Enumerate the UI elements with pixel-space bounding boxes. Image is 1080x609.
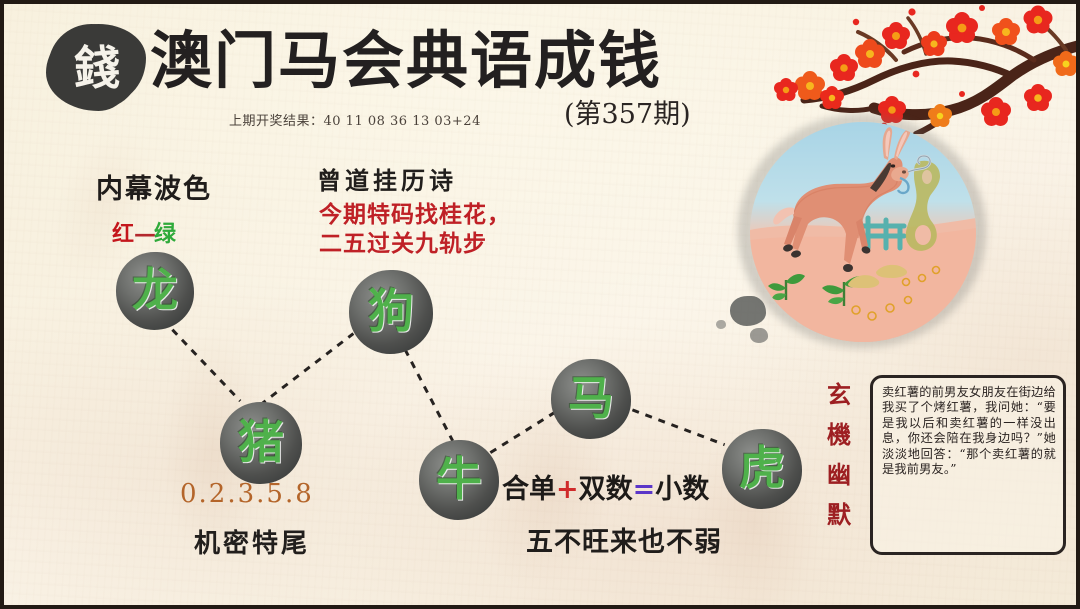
ink-splat-large <box>730 296 766 326</box>
zodiac-ball-pig[interactable]: 猪 <box>220 402 302 484</box>
formula-middle: 双数 <box>579 474 633 505</box>
issue-number: (第357期) <box>564 92 691 131</box>
plum-blossom-branch <box>766 0 1080 134</box>
humor-vertical-label: 玄機幽默 <box>822 375 856 535</box>
humor-text-box: 卖红薯的前男友女朋友在街边给我买了个烤红薯，我问她：“要是我以后和卖红薯的一样没… <box>870 375 1066 555</box>
formula-right: 小数 <box>655 474 709 505</box>
seal-glyph: 錢 <box>42 18 150 116</box>
secret-tail-label: 机密特尾 <box>194 523 310 560</box>
secret-tail-numbers: 0.2.3.5.8 <box>180 479 314 509</box>
donkey-artwork <box>750 122 976 342</box>
ink-splat-tiny <box>716 320 726 329</box>
formula-left: 合单 <box>502 474 556 505</box>
poem-body: 今期特码找桂花， 二五过关九轨步 <box>319 200 511 258</box>
page-title: 澳门马会典语成钱 <box>150 30 662 92</box>
zodiac-ball-horse[interactable]: 马 <box>551 359 631 439</box>
ink-splat-small <box>750 328 768 343</box>
brand-seal: 錢 <box>42 18 150 116</box>
zodiac-ball-ox-label: 牛 <box>436 456 482 505</box>
zodiac-ball-pig-label: 猪 <box>238 419 284 468</box>
zodiac-ball-dragon-label: 龙 <box>132 267 178 316</box>
link-dog-ox <box>405 349 453 440</box>
link-ox-horse <box>490 413 554 453</box>
zodiac-ball-dog-label: 狗 <box>368 288 414 337</box>
link-horse-tiger <box>619 405 724 445</box>
artwork-disc <box>750 122 976 342</box>
zodiac-ball-dragon[interactable]: 龙 <box>116 252 194 330</box>
formula-plus: + <box>556 474 579 505</box>
zodiac-ball-dog[interactable]: 狗 <box>349 270 433 354</box>
wave-color-dash: — <box>134 221 154 247</box>
wave-color-title: 内幕波色 <box>96 167 212 206</box>
link-pig-dog <box>260 334 353 405</box>
zodiac-ball-tiger-label: 虎 <box>739 445 785 494</box>
donkey-scene-svg <box>750 122 976 342</box>
wave-color-value: 红—绿 <box>112 216 176 248</box>
zodiac-ball-ox[interactable]: 牛 <box>419 440 499 520</box>
formula-expression: 合单+双数=小数 <box>502 467 709 506</box>
poem-line-2: 二五过关九轨步 <box>319 229 511 258</box>
poem-line-1: 今期特码找桂花， <box>319 200 511 229</box>
link-dragon-pig <box>163 320 240 401</box>
zodiac-ball-horse-label: 马 <box>568 375 614 424</box>
last-draw-result: 上期开奖结果：40 11 08 36 13 03+24 <box>229 110 481 129</box>
formula-equals: = <box>633 474 656 505</box>
poster-canvas: 錢 澳门马会典语成钱 (第357期) 上期开奖结果：40 11 08 36 13… <box>0 0 1080 609</box>
wave-color-second: 绿 <box>154 221 176 247</box>
zodiac-ball-tiger[interactable]: 虎 <box>722 429 802 509</box>
wave-color-first: 红 <box>112 221 134 247</box>
poem-title: 曾道挂历诗 <box>317 161 457 196</box>
formula-subtitle: 五不旺来也不弱 <box>526 520 722 559</box>
humor-text: 卖红薯的前男友女朋友在街边给我买了个烤红薯，我问她：“要是我以后和卖红薯的一样没… <box>882 385 1056 477</box>
